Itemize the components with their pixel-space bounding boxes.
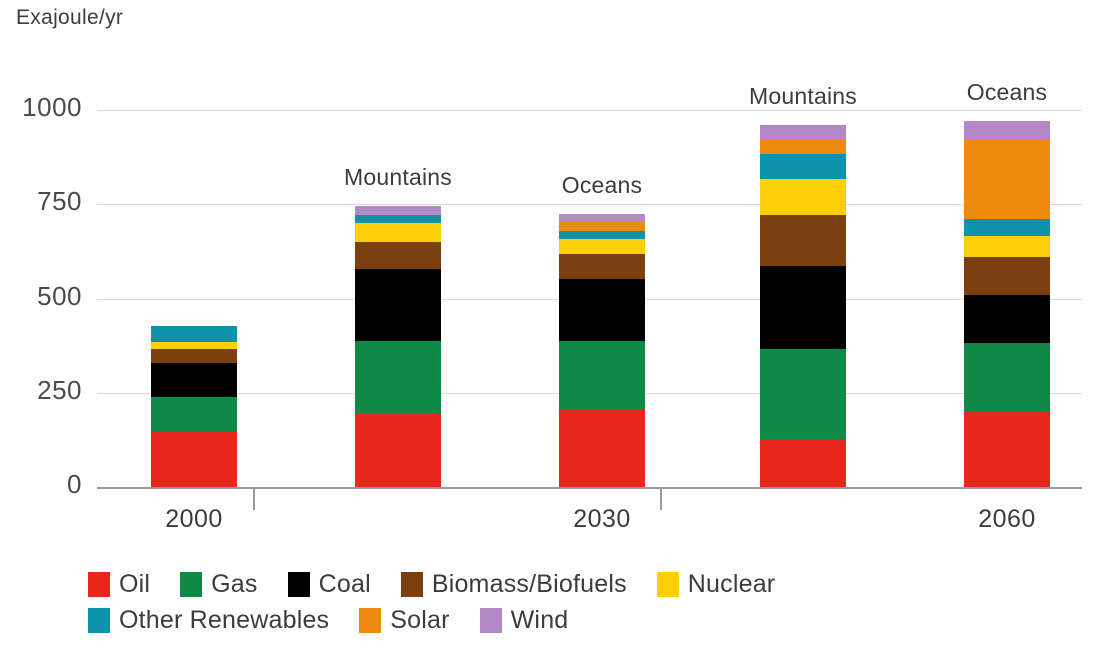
- x-axis-tick-label: 2030: [542, 505, 662, 534]
- scenario-label: Mountains: [705, 83, 901, 110]
- bar-segment-oil[interactable]: [151, 432, 237, 487]
- legend-label: Solar: [390, 606, 449, 635]
- legend-swatch-icon: [88, 608, 110, 633]
- y-axis-tick-label: 750: [37, 186, 82, 217]
- plot-area: 02505007501000MountainsOceansMountainsOc…: [0, 0, 1094, 500]
- legend-swatch-icon: [480, 608, 502, 633]
- bar-segment-wind[interactable]: [964, 121, 1050, 140]
- legend-label: Oil: [119, 570, 150, 599]
- legend-item-wind[interactable]: Wind: [480, 606, 569, 635]
- legend-item-gas[interactable]: Gas: [180, 570, 257, 599]
- legend-swatch-icon: [401, 572, 423, 597]
- bar-2030-oceans[interactable]: [559, 214, 645, 487]
- legend-label: Coal: [319, 570, 371, 599]
- legend-swatch-icon: [88, 572, 110, 597]
- bar-segment-oil[interactable]: [559, 409, 645, 487]
- legend-item-nuclear[interactable]: Nuclear: [657, 570, 776, 599]
- chart-legend: OilGasCoalBiomass/BiofuelsNuclearOther R…: [88, 566, 1078, 638]
- bar-segment-gas[interactable]: [355, 341, 441, 414]
- bar-segment-coal[interactable]: [355, 269, 441, 341]
- bar-segment-gas[interactable]: [151, 397, 237, 433]
- legend-item-oil[interactable]: Oil: [88, 570, 150, 599]
- scenario-label: Oceans: [909, 79, 1094, 106]
- legend-swatch-icon: [180, 572, 202, 597]
- bar-segment-other-renewables[interactable]: [760, 154, 846, 179]
- legend-item-other-renewables[interactable]: Other Renewables: [88, 606, 329, 635]
- x-axis-tick-label: 2060: [947, 505, 1067, 534]
- bar-segment-other-renewables[interactable]: [559, 231, 645, 239]
- legend-label: Nuclear: [688, 570, 776, 599]
- legend-label: Wind: [511, 606, 569, 635]
- bar-segment-wind[interactable]: [760, 125, 846, 139]
- gridline: [97, 110, 1082, 111]
- bar-segment-solar[interactable]: [559, 222, 645, 231]
- legend-item-solar[interactable]: Solar: [359, 606, 449, 635]
- bar-segment-other-renewables[interactable]: [355, 215, 441, 223]
- y-axis-tick-label: 1000: [22, 92, 82, 123]
- scenario-label: Oceans: [504, 172, 700, 199]
- y-axis-tick-label: 0: [67, 469, 82, 500]
- bar-segment-nuclear[interactable]: [760, 179, 846, 214]
- legend-label: Gas: [211, 570, 257, 599]
- bar-2060-mountains[interactable]: [760, 125, 846, 487]
- bar-segment-other-renewables[interactable]: [151, 326, 237, 342]
- bar-segment-oil[interactable]: [355, 414, 441, 487]
- bar-segment-biomass-biofuels[interactable]: [151, 349, 237, 362]
- legend-row: Other RenewablesSolarWind: [88, 602, 1078, 638]
- bar-segment-coal[interactable]: [151, 363, 237, 397]
- y-axis-tick-label: 500: [37, 281, 82, 312]
- bar-segment-biomass-biofuels[interactable]: [355, 242, 441, 270]
- bar-2030-mountains[interactable]: [355, 206, 441, 487]
- bar-2060-oceans[interactable]: [964, 121, 1050, 487]
- legend-swatch-icon: [657, 572, 679, 597]
- legend-swatch-icon: [288, 572, 310, 597]
- bar-segment-oil[interactable]: [760, 439, 846, 487]
- bar-segment-other-renewables[interactable]: [964, 219, 1050, 236]
- y-axis-tick-label: 250: [37, 375, 82, 406]
- bar-segment-gas[interactable]: [559, 341, 645, 408]
- legend-label: Biomass/Biofuels: [432, 570, 627, 599]
- bar-segment-wind[interactable]: [559, 214, 645, 222]
- bar-2000-base[interactable]: [151, 326, 237, 487]
- x-axis-tick-label: 2000: [134, 505, 254, 534]
- legend-item-biomass-biofuels[interactable]: Biomass/Biofuels: [401, 570, 627, 599]
- bar-segment-biomass-biofuels[interactable]: [559, 254, 645, 278]
- bar-segment-coal[interactable]: [559, 279, 645, 342]
- bar-segment-coal[interactable]: [964, 295, 1050, 343]
- gridline: [97, 204, 1082, 205]
- bar-segment-solar[interactable]: [964, 139, 1050, 219]
- bar-segment-nuclear[interactable]: [355, 223, 441, 242]
- legend-row: OilGasCoalBiomass/BiofuelsNuclear: [88, 566, 1078, 602]
- bar-segment-biomass-biofuels[interactable]: [964, 257, 1050, 295]
- bar-segment-gas[interactable]: [760, 349, 846, 439]
- axis-baseline: [97, 487, 1082, 489]
- stacked-bar-chart: Exajoule/yr 02505007501000MountainsOcean…: [0, 0, 1094, 663]
- bar-segment-nuclear[interactable]: [151, 342, 237, 350]
- legend-item-coal[interactable]: Coal: [288, 570, 371, 599]
- bar-segment-coal[interactable]: [760, 266, 846, 349]
- bar-segment-wind[interactable]: [355, 206, 441, 215]
- legend-swatch-icon: [359, 608, 381, 633]
- bar-segment-solar[interactable]: [760, 139, 846, 154]
- bar-segment-nuclear[interactable]: [559, 239, 645, 254]
- bar-segment-oil[interactable]: [964, 412, 1050, 487]
- bar-segment-nuclear[interactable]: [964, 236, 1050, 257]
- scenario-label: Mountains: [300, 164, 496, 191]
- bar-segment-biomass-biofuels[interactable]: [760, 215, 846, 267]
- bar-segment-gas[interactable]: [964, 343, 1050, 412]
- legend-label: Other Renewables: [119, 606, 329, 635]
